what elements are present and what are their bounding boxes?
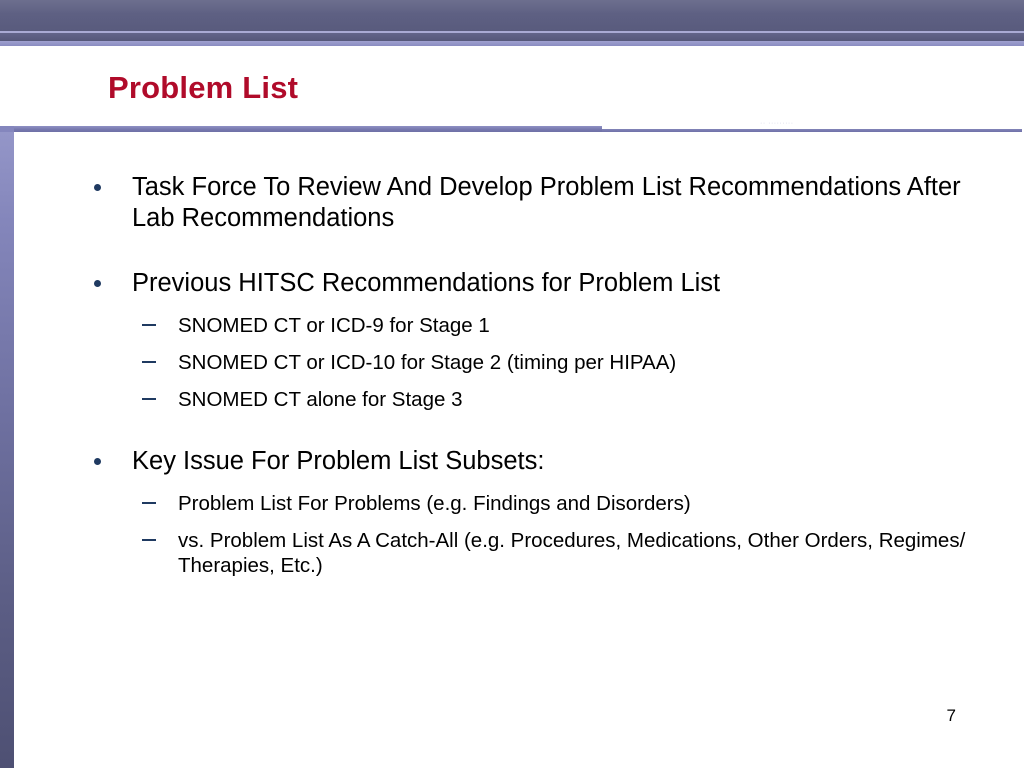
- spacer: [86, 375, 986, 387]
- sidebar-accent-strip: [0, 132, 14, 768]
- bullet-group-2: Previous HITSC Recommendations for Probl…: [86, 268, 986, 412]
- bullet-text: SNOMED CT or ICD-9 for Stage 1: [178, 314, 490, 337]
- header-bar-accent: [0, 41, 1024, 46]
- header-watermark-text: ·· ·········: [760, 120, 880, 129]
- title-divider-thick: [8, 126, 602, 132]
- page-title: Problem List: [108, 70, 298, 106]
- bullet-item-level2: SNOMED CT or ICD-9 for Stage 1: [86, 313, 986, 338]
- bullet-dot-icon: [94, 280, 101, 287]
- dash-bullet-icon: [142, 324, 156, 326]
- bullet-group-3: Key Issue For Problem List Subsets: Prob…: [86, 446, 986, 578]
- header-bar-secondary: [0, 33, 1024, 41]
- bullet-item-level2: SNOMED CT alone for Stage 3: [86, 387, 986, 412]
- bullet-item-level2: SNOMED CT or ICD-10 for Stage 2 (timing …: [86, 350, 986, 375]
- bullet-item-level1: Task Force To Review And Develop Problem…: [86, 172, 986, 234]
- title-divider-thin: [602, 129, 1022, 132]
- bullet-item-level2: vs. Problem List As A Catch-All (e.g. Pr…: [86, 528, 986, 578]
- spacer: [86, 516, 986, 528]
- bullet-text: Previous HITSC Recommendations for Probl…: [132, 269, 720, 297]
- spacer: [86, 477, 986, 491]
- bullet-item-level1: Previous HITSC Recommendations for Probl…: [86, 268, 986, 299]
- dash-bullet-icon: [142, 502, 156, 504]
- spacer: [86, 299, 986, 313]
- spacer: [86, 412, 986, 446]
- bullet-item-level1: Key Issue For Problem List Subsets:: [86, 446, 986, 477]
- bullet-item-level2: Problem List For Problems (e.g. Findings…: [86, 491, 986, 516]
- bullet-text: Key Issue For Problem List Subsets:: [132, 447, 544, 475]
- bullet-group-1: Task Force To Review And Develop Problem…: [86, 172, 986, 234]
- dash-bullet-icon: [142, 539, 156, 541]
- bullet-text: SNOMED CT alone for Stage 3: [178, 388, 462, 411]
- spacer: [86, 338, 986, 350]
- dash-bullet-icon: [142, 398, 156, 400]
- header-bar-primary: [0, 0, 1024, 31]
- presentation-slide: Problem List ·· ········· Task Force To …: [0, 0, 1024, 768]
- page-number: 7: [947, 706, 956, 726]
- bullet-text: Problem List For Problems (e.g. Findings…: [178, 492, 691, 515]
- bullet-dot-icon: [94, 184, 101, 191]
- bullet-dot-icon: [94, 458, 101, 465]
- bullet-text: Task Force To Review And Develop Problem…: [132, 173, 961, 232]
- slide-body: Task Force To Review And Develop Problem…: [86, 172, 986, 578]
- dash-bullet-icon: [142, 361, 156, 363]
- bullet-text: vs. Problem List As A Catch-All (e.g. Pr…: [178, 529, 965, 577]
- bullet-text: SNOMED CT or ICD-10 for Stage 2 (timing …: [178, 351, 676, 374]
- spacer: [86, 234, 986, 268]
